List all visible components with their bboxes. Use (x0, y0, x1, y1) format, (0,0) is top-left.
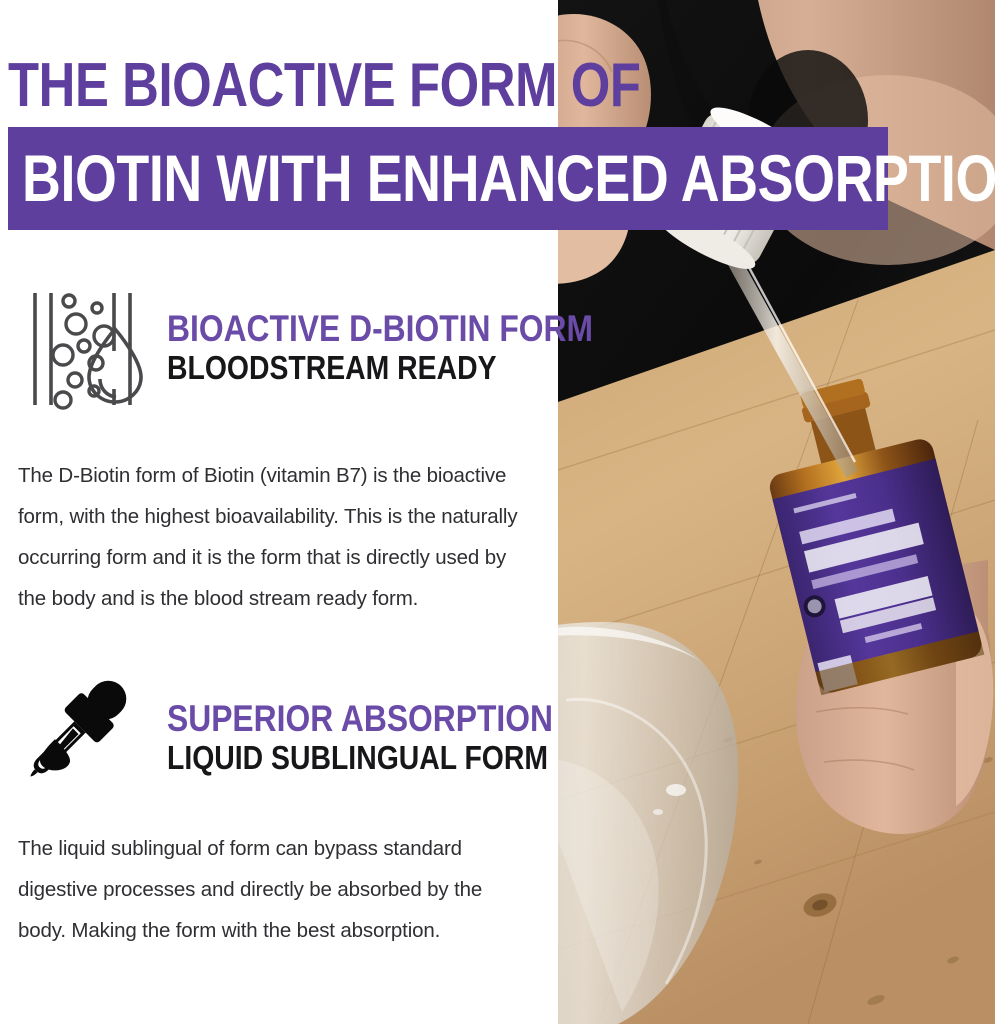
feature-body-text: The D-Biotin form of Biotin (vitamin B7)… (18, 455, 534, 619)
feature-subtitle: LIQUID SUBLINGUAL FORM (167, 739, 498, 777)
feature-header: SUPERIOR ABSORPTION LIQUID SUBLINGUAL FO… (0, 675, 558, 805)
dropper-pipette-icon (18, 675, 143, 800)
feature-header: BIOACTIVE D-BIOTIN FORM BLOODSTREAM READ… (0, 285, 558, 415)
feature-block-superior-absorption: SUPERIOR ABSORPTION LIQUID SUBLINGUAL FO… (0, 675, 558, 805)
hair-strands-droplet-icon (18, 285, 143, 410)
headline-line-1: THE BIOACTIVE FORM OF (8, 47, 455, 125)
promo-graphic: THE BIOACTIVE FORM OF BIOTIN WITH ENHANC… (0, 0, 995, 1024)
feature-subtitle: BLOODSTREAM READY (167, 349, 498, 387)
feature-title: BIOACTIVE D-BIOTIN FORM (167, 309, 498, 349)
feature-titles: BIOACTIVE D-BIOTIN FORM BLOODSTREAM READ… (167, 309, 552, 387)
headline-line-2: BIOTIN WITH ENHANCED ABSORPTION (22, 141, 886, 216)
feature-body-text: The liquid sublingual of form can bypass… (18, 828, 534, 951)
feature-title: SUPERIOR ABSORPTION (167, 699, 498, 739)
feature-titles: SUPERIOR ABSORPTION LIQUID SUBLINGUAL FO… (167, 699, 552, 777)
feature-block-bioactive-d-biotin: BIOACTIVE D-BIOTIN FORM BLOODSTREAM READ… (0, 285, 558, 415)
